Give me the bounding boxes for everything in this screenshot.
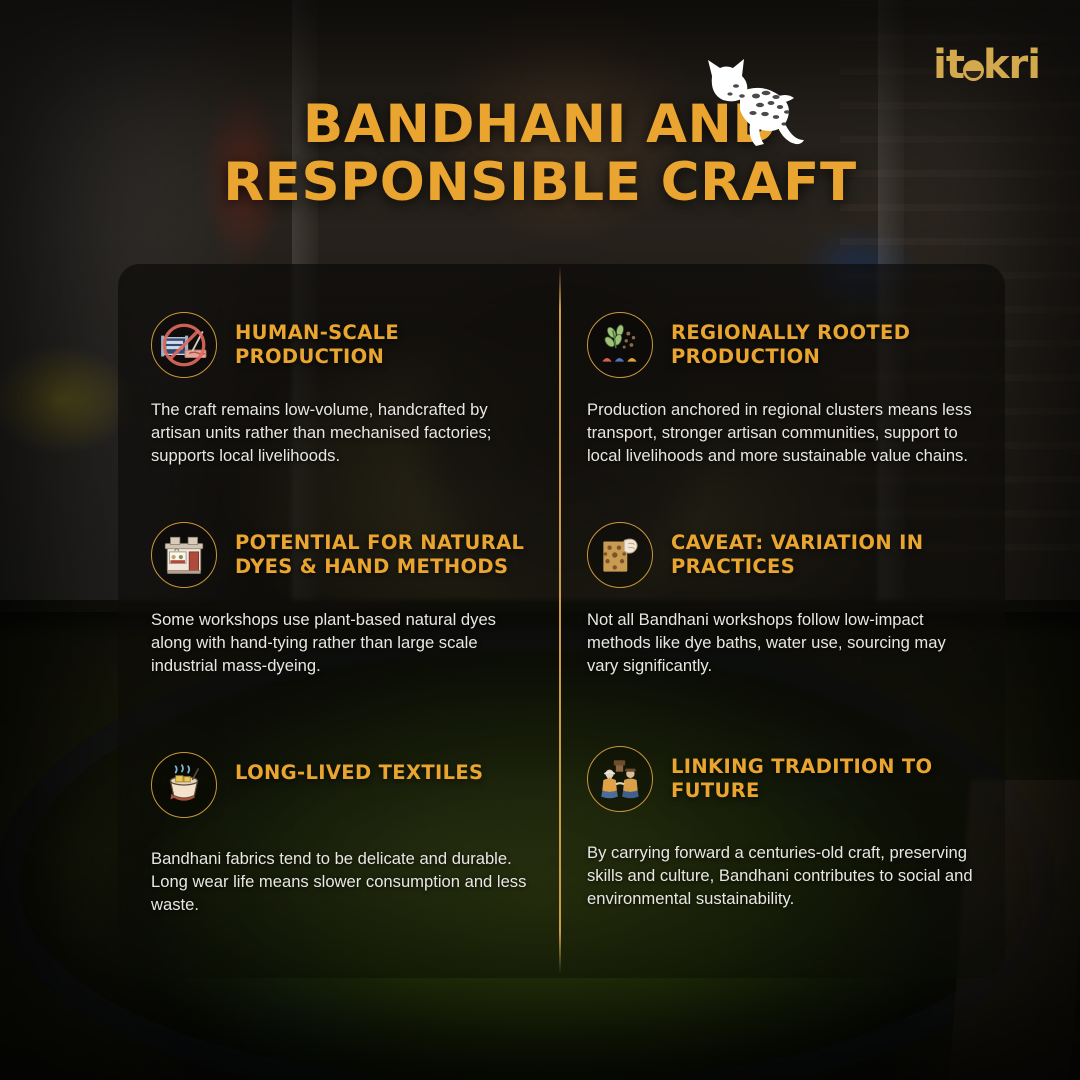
two-seated-artisans-icon: [587, 746, 653, 812]
card-header: REGIONALLY ROOTED PRODUCTION: [587, 312, 975, 378]
seedling-and-dye-mounds-icon: [587, 312, 653, 378]
logo-text-left: it: [933, 42, 964, 88]
card-title: LINKING TRADITION TO FUTURE: [671, 746, 975, 803]
card-long-lived-textiles: LONG-LIVED TEXTILES Bandhani fabrics ten…: [118, 684, 559, 978]
card-title: REGIONALLY ROOTED PRODUCTION: [671, 312, 975, 369]
steaming-dye-pot-icon: [151, 752, 217, 818]
card-title: POTENTIAL FOR NATURAL DYES & HAND METHOD…: [235, 522, 535, 579]
card-body: Some workshops use plant-based natural d…: [151, 609, 535, 678]
card-header: HUMAN-SCALE PRODUCTION: [151, 312, 535, 378]
card-caveat-variation-in-practices: CAVEAT: VARIATION IN PRACTICES Not all B…: [559, 474, 1005, 684]
card-title: HUMAN-SCALE PRODUCTION: [235, 312, 535, 369]
card-title: LONG-LIVED TEXTILES: [235, 752, 483, 785]
no-factory-machine-icon: [151, 312, 217, 378]
card-body: By carrying forward a centuries-old craf…: [587, 842, 975, 911]
cat-mascot-icon: [690, 52, 808, 152]
card-header: CAVEAT: VARIATION IN PRACTICES: [587, 522, 975, 588]
title-line-2: RESPONSIBLE CRAFT: [0, 154, 1080, 212]
card-human-scale-production: HUMAN-SCALE PRODUCTION The craft remains…: [118, 264, 559, 474]
card-header: POTENTIAL FOR NATURAL DYES & HAND METHOD…: [151, 522, 535, 588]
hand-holding-patterned-fabric-icon: [587, 522, 653, 588]
card-header: LONG-LIVED TEXTILES: [151, 752, 535, 818]
card-body: The craft remains low-volume, handcrafte…: [151, 399, 535, 468]
card-body: Bandhani fabrics tend to be delicate and…: [151, 848, 535, 917]
artisan-workshop-storefront-icon: [151, 522, 217, 588]
card-body: Production anchored in regional clusters…: [587, 399, 975, 468]
card-regionally-rooted-production: REGIONALLY ROOTED PRODUCTION Production …: [559, 264, 1005, 474]
itokri-logo[interactable]: itkri: [933, 42, 1040, 88]
cards-grid: HUMAN-SCALE PRODUCTION The craft remains…: [118, 264, 1005, 978]
card-linking-tradition-to-future: LINKING TRADITION TO FUTURE By carrying …: [559, 684, 1005, 978]
card-header: LINKING TRADITION TO FUTURE: [587, 746, 975, 812]
card-title: CAVEAT: VARIATION IN PRACTICES: [671, 522, 975, 579]
card-body: Not all Bandhani workshops follow low-im…: [587, 609, 975, 678]
logo-bowl-icon: [963, 60, 984, 81]
card-potential-for-natural-dyes: POTENTIAL FOR NATURAL DYES & HAND METHOD…: [118, 474, 559, 684]
page-title: BANDHANI AND RESPONSIBLE CRAFT: [0, 96, 1080, 212]
logo-text-right: kri: [983, 42, 1040, 88]
infographic-poster: itkri BANDHANI AND RESPONSIBLE CRAFT: [0, 0, 1080, 1080]
